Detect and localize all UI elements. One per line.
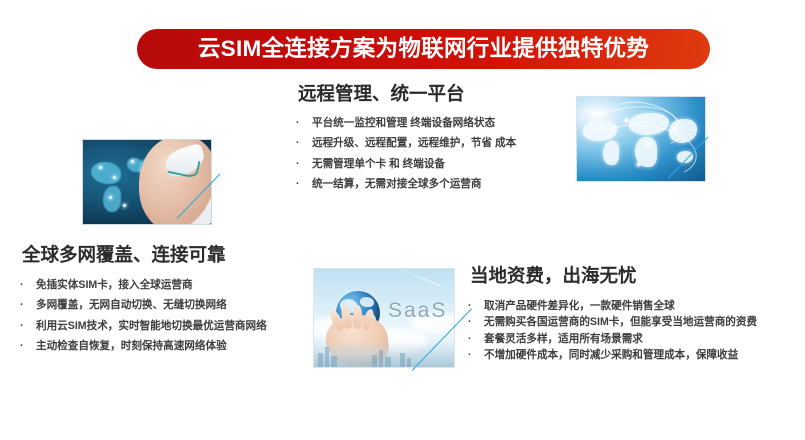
bullet-text: 套餐灵活多样，适用所有场景需求 [484,332,793,346]
light-streak-graphic [390,268,440,286]
section-heading-remote-management: 远程管理、统一平台 [298,84,465,104]
bullet-list-remote-management: · 平台统一监控和管理 终端设备网络状态 · 远程升级、远程配置，远程维护，节省… [296,116,558,197]
bullet-dot: · [468,315,484,329]
list-item: · 无需购买各国运营商的SIM卡，但能享受当地运营商的资费 [468,315,793,329]
bullet-dot: · [296,116,312,130]
page-title: 云SIM全连接方案为物联网行业提供独特优势 [198,38,649,61]
section-heading-global-coverage: 全球多网覆盖、连接可靠 [22,245,226,265]
list-item: · 多网覆盖，无网自动切换、无缝切换网络 [20,298,282,312]
bullet-text: 统一结算，无需对接全球多个运营商 [312,177,558,191]
bullet-text: 主动检查自恢复，时刻保持高速网络体验 [36,339,282,353]
bullet-dot: · [20,319,36,333]
list-item: · 主动检查自恢复，时刻保持高速网络体验 [20,339,282,353]
list-item: · 远程升级、远程配置，远程维护，节省 成本 [296,136,558,150]
bullet-dot: · [468,332,484,346]
bullet-text: 平台统一监控和管理 终端设备网络状态 [312,116,558,130]
bullet-dot: · [468,299,484,313]
bullet-dot: · [296,136,312,150]
bullet-text: 免插实体SIM卡，接入全球运营商 [36,278,282,292]
list-item: · 无需管理单个卡 和 终端设备 [296,157,558,171]
bullet-text: 多网覆盖，无网自动切换、无缝切换网络 [36,298,282,312]
bullet-text: 无需管理单个卡 和 终端设备 [312,157,558,171]
bullet-text: 远程升级、远程配置，远程维护，节省 成本 [312,136,558,150]
bullet-dot: · [20,278,36,292]
list-item: · 统一结算，无需对接全球多个运营商 [296,177,558,191]
slide-root: { "slide": { "title": "云SIM全连接方案为物联网行业提供… [0,0,805,440]
list-item: · 取消产品硬件差异化，一款硬件销售全球 [468,299,793,313]
list-item: · 套餐灵活多样，适用所有场景需求 [468,332,793,346]
slide-title-banner: 云SIM全连接方案为物联网行业提供独特优势 [137,29,710,69]
bullet-list-global-coverage: · 免插实体SIM卡，接入全球运营商 · 多网覆盖，无网自动切换、无缝切换网络 … [20,278,282,359]
saas-label: SaaS [388,299,447,323]
list-item: · 平台统一监控和管理 终端设备网络状态 [296,116,558,130]
list-item: · 不增加硬件成本，同时减少采购和管理成本，保障收益 [468,348,793,362]
bullet-dot: · [296,157,312,171]
bullet-dot: · [468,348,484,362]
bullet-dot: · [20,339,36,353]
list-item: · 利用云SIM技术，实时智能地切换最优运营商网络 [20,319,282,333]
bullet-text: 取消产品硬件差异化，一款硬件销售全球 [484,299,793,313]
skyline-graphic [314,341,454,367]
bullet-text: 无需购买各国运营商的SIM卡，但能享受当地运营商的资费 [484,315,793,329]
image-network-touch [82,139,212,225]
section-heading-local-tariff: 当地资费，出海无忧 [470,266,637,286]
bullet-text: 不增加硬件成本，同时减少采购和管理成本，保障收益 [484,348,793,362]
bullet-list-local-tariff: · 取消产品硬件差异化，一款硬件销售全球 · 无需购买各国运营商的SIM卡，但能… [468,299,793,364]
image-world-map [576,96,706,182]
bullet-text: 利用云SIM技术，实时智能地切换最优运营商网络 [36,319,282,333]
bullet-dot: · [296,177,312,191]
bullet-dot: · [20,298,36,312]
image-saas-globe: SaaS [313,268,455,368]
list-item: · 免插实体SIM卡，接入全球运营商 [20,278,282,292]
